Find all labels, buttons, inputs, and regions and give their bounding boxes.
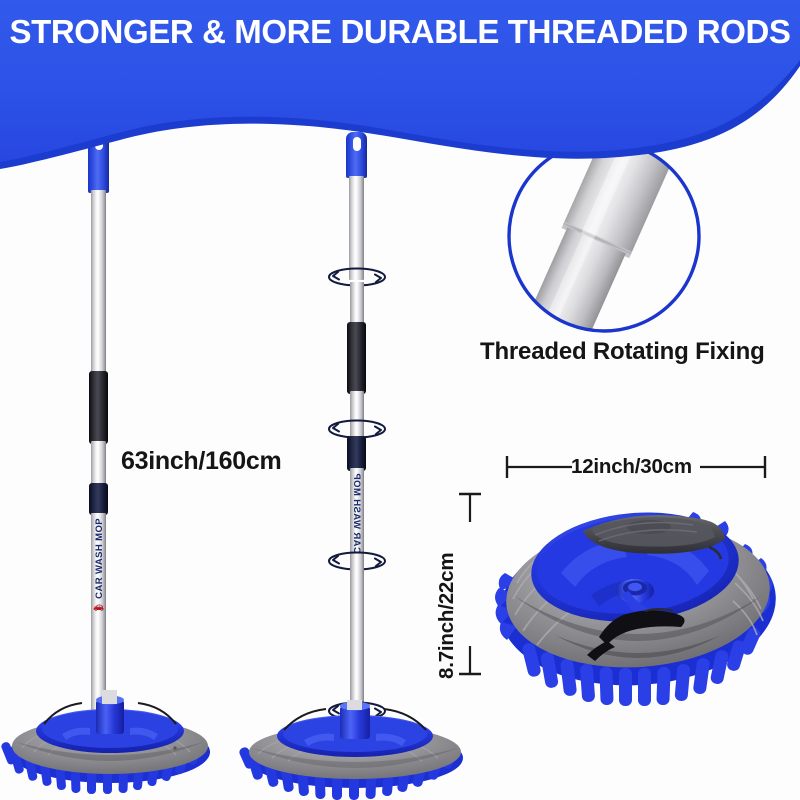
left-mop-upper-pole <box>91 190 106 374</box>
depth-dimension-line <box>455 488 485 680</box>
mid-mop-head <box>240 700 470 800</box>
car-icon: 🚗 <box>93 602 104 611</box>
left-mop-mid-pole <box>91 441 106 486</box>
height-dimension-label: 63inch/160cm <box>121 447 281 476</box>
mid-mop-grip <box>347 322 366 394</box>
mid-mop-navy-grip <box>347 436 366 471</box>
left-mop-head <box>0 690 220 800</box>
middle-mop-product: CAR WASH MOP 🚗 <box>260 0 510 800</box>
hang-hole-icon <box>95 136 103 150</box>
left-mop-cap <box>88 131 109 193</box>
threaded-rod-inset <box>496 131 712 347</box>
left-mop-upper-grip <box>89 371 108 444</box>
mid-mop-cap <box>346 132 367 178</box>
hang-hole-icon <box>353 137 361 151</box>
mop-head-detail <box>495 495 785 690</box>
left-mop-product: CAR WASH MOP 🚗 <box>0 0 220 800</box>
mid-mop-pole-seg2 <box>350 282 364 326</box>
left-mop-lower-grip <box>89 483 108 515</box>
inset-caption: Threaded Rotating Fixing <box>480 338 765 366</box>
head-depth-dimension-label: 8.7inch/22cm <box>435 553 459 679</box>
brand-text: CAR WASH MOP <box>94 518 105 599</box>
product-infographic: STRONGER & MORE DURABLE THREADED RODS CA… <box>0 0 800 800</box>
left-mop-brand-label: CAR WASH MOP 🚗 <box>93 518 105 626</box>
head-width-dimension-label: 12inch/30cm <box>571 455 692 479</box>
